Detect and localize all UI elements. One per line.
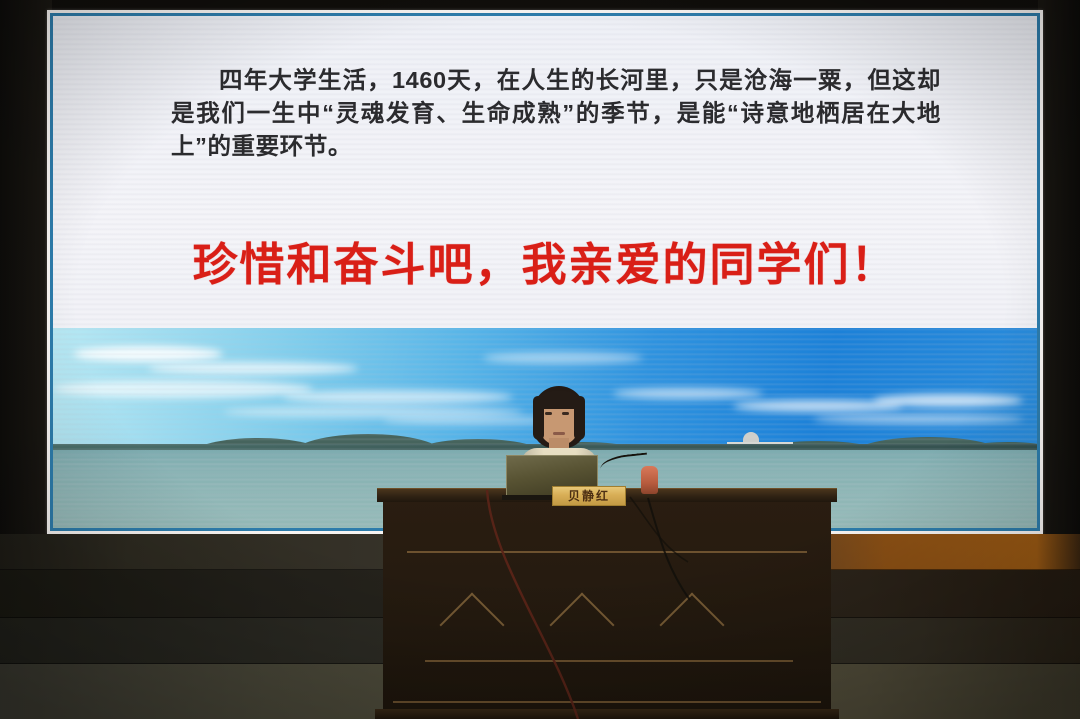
- slide-body-text: 四年大学生活，1460天，在人生的长河里，只是沧海一粟，但这却是我们一生中“灵魂…: [171, 64, 941, 163]
- cloud-shape: [873, 394, 1023, 407]
- cloud-shape: [613, 388, 763, 399]
- cloud-shape: [283, 390, 513, 404]
- cloud-shape: [813, 414, 1023, 424]
- cloud-shape: [53, 380, 313, 398]
- speaker-eye-right: [562, 412, 569, 415]
- podium-trim-line: [407, 551, 807, 553]
- podium-trim-line: [425, 660, 793, 662]
- dome-building: [743, 432, 759, 442]
- presentation-scene: 四年大学生活，1460天，在人生的长河里，只是沧海一粟，但这却是我们一生中“灵魂…: [0, 0, 1080, 719]
- podium-trim-line: [393, 701, 821, 703]
- podium-chevron: [439, 592, 504, 657]
- cloud-shape: [148, 362, 358, 375]
- podium-chevron: [549, 592, 614, 657]
- microphone-base: [641, 466, 658, 494]
- podium-chevron: [659, 592, 724, 657]
- speaker-nameplate: 贝静红: [552, 486, 626, 506]
- podium-base: [375, 709, 839, 719]
- speaker-mouth: [553, 432, 565, 435]
- speaker-hair-right: [574, 396, 585, 440]
- nameplate-text: 贝静红: [568, 490, 610, 502]
- auditorium-wall-right: [1038, 0, 1080, 540]
- speaker-eye-left: [545, 412, 552, 415]
- speaker-hair-left: [533, 396, 544, 440]
- slide-headline: 珍惜和奋斗吧，我亲爱的同学们！: [53, 228, 1037, 293]
- cloud-shape: [73, 346, 223, 362]
- lectern-podium: [383, 494, 831, 719]
- cloud-shape: [483, 352, 643, 364]
- auditorium-wall-left: [0, 0, 52, 540]
